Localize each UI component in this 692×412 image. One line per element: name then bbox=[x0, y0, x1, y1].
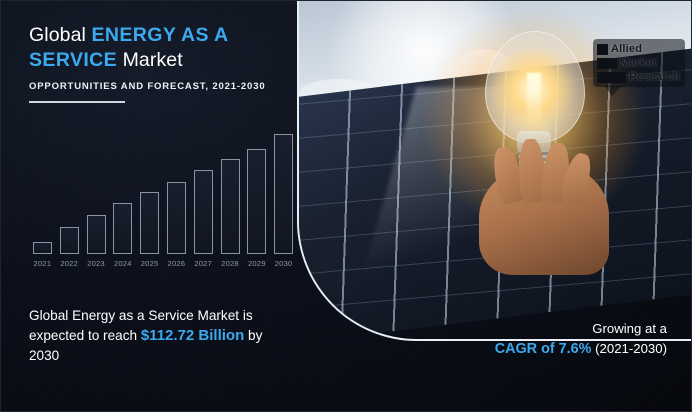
logo-row: Allied bbox=[597, 43, 681, 55]
x-label-2026: 2026 bbox=[163, 259, 190, 268]
chart-bar-2028 bbox=[221, 159, 240, 254]
x-label-2030: 2030 bbox=[270, 259, 297, 268]
chart-bar-2023 bbox=[87, 215, 106, 254]
chart-bar-2030 bbox=[274, 134, 293, 254]
allied-market-research-logo[interactable]: Allied Market Research bbox=[593, 35, 685, 91]
value-amount: $112.72 Billion bbox=[141, 327, 244, 344]
title-highlight-2: SERVICE bbox=[29, 49, 117, 71]
x-label-2022: 2022 bbox=[56, 259, 83, 268]
market-value-statement: Global Energy as a Service Market is exp… bbox=[29, 306, 291, 366]
market-bar-chart: 2021202220232024202520262027202820292030 bbox=[29, 129, 297, 275]
x-label-2025: 2025 bbox=[136, 259, 163, 268]
title-highlight-1: ENERGY AS A bbox=[92, 24, 229, 46]
logo-line-2: Market bbox=[620, 58, 657, 69]
logo-row: Research bbox=[597, 71, 681, 83]
cagr-lead: Growing at a bbox=[495, 319, 667, 339]
logo-bar-icon bbox=[597, 72, 626, 83]
x-label-2027: 2027 bbox=[190, 259, 217, 268]
x-label-2024: 2024 bbox=[109, 259, 136, 268]
x-label-2023: 2023 bbox=[83, 259, 110, 268]
page-subtitle: OPPORTUNITIES AND FORECAST, 2021-2030 bbox=[29, 81, 265, 92]
chart-bar-2026 bbox=[167, 182, 186, 254]
logo-bar-icon bbox=[597, 44, 608, 55]
logo-speech-bubble: Allied Market Research bbox=[593, 39, 685, 87]
logo-bar-icon bbox=[597, 58, 617, 69]
logo-line-3: Research bbox=[629, 72, 680, 83]
logo-row: Market bbox=[597, 57, 681, 69]
cagr-line: CAGR of 7.6% (2021-2030) bbox=[495, 339, 667, 359]
chart-bar-2022 bbox=[60, 227, 79, 254]
chart-bar-2024 bbox=[113, 203, 132, 254]
page-title: Global ENERGY AS A SERVICE Market bbox=[29, 23, 297, 73]
chart-bar-2021 bbox=[33, 242, 52, 254]
light-bulb-illustration bbox=[459, 19, 609, 269]
cagr-value: CAGR of 7.6% bbox=[495, 341, 592, 357]
logo-line-1: Allied bbox=[611, 44, 642, 55]
chart-bar-2027 bbox=[194, 170, 213, 254]
infographic-poster: Allied Market Research Global ENERGY AS … bbox=[0, 0, 692, 412]
chart-x-axis-labels: 2021202220232024202520262027202820292030 bbox=[29, 259, 297, 273]
x-label-2029: 2029 bbox=[243, 259, 270, 268]
bulb-filament bbox=[527, 73, 541, 129]
chart-bar-2029 bbox=[247, 149, 266, 254]
cagr-period: (2021-2030) bbox=[595, 341, 667, 356]
chart-bar-2025 bbox=[140, 192, 159, 254]
x-label-2021: 2021 bbox=[29, 259, 56, 268]
title-divider bbox=[29, 101, 125, 103]
chart-bars bbox=[29, 132, 297, 254]
cagr-statement: Growing at a CAGR of 7.6% (2021-2030) bbox=[495, 319, 667, 359]
title-prefix: Global bbox=[29, 24, 92, 46]
x-label-2028: 2028 bbox=[217, 259, 244, 268]
title-suffix: Market bbox=[117, 49, 183, 71]
